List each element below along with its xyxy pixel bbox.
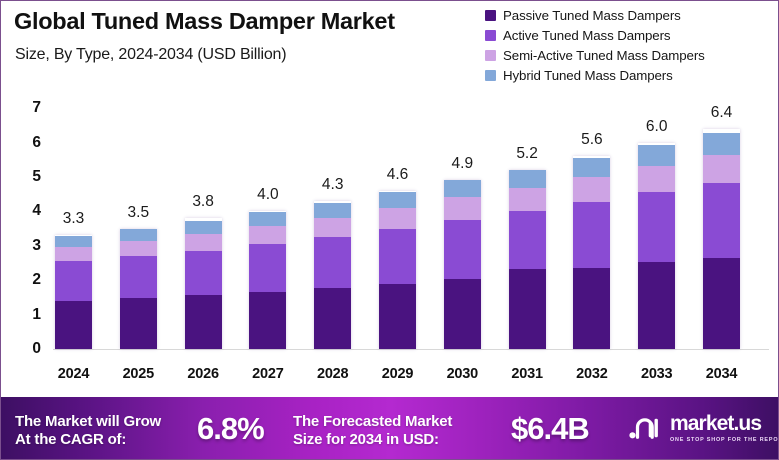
cagr-label-line2: At the CAGR of: [15, 431, 161, 449]
bar-segment[interactable] [638, 145, 675, 166]
market-us-logo[interactable]: market.us ONE STOP SHOP FOR THE REPORTS [629, 410, 779, 446]
x-axis-tick-label: 2032 [561, 366, 623, 382]
bar-segment[interactable] [573, 158, 610, 177]
bar-segment[interactable] [314, 203, 351, 218]
bar-segment[interactable] [444, 180, 481, 197]
bar-segment[interactable] [249, 292, 286, 349]
bar-group[interactable]: 6.0 [638, 143, 675, 349]
x-axis-tick-label: 2033 [626, 366, 688, 382]
stacked-bar[interactable] [638, 143, 675, 349]
bar-segment[interactable] [185, 251, 222, 295]
x-axis-tick-label: 2034 [691, 366, 753, 382]
bar-segment[interactable] [509, 211, 546, 269]
stacked-bar[interactable] [379, 191, 416, 349]
bar-total-label: 4.9 [452, 155, 474, 173]
legend-swatch-icon [485, 10, 496, 21]
x-axis-tick-label: 2030 [431, 366, 493, 382]
chart-legend: Passive Tuned Mass DampersActive Tuned M… [485, 7, 705, 84]
x-axis-tick-label: 2029 [367, 366, 429, 382]
bar-segment[interactable] [55, 261, 92, 301]
chart-infographic: Global Tuned Mass Damper Market Size, By… [0, 0, 779, 460]
logo-text: market.us ONE STOP SHOP FOR THE REPORTS [670, 413, 779, 443]
forecast-size-label-line1: The Forecasted Market [293, 413, 452, 431]
legend-item-label: Semi-Active Tuned Mass Dampers [503, 48, 705, 63]
stacked-bar[interactable] [55, 235, 92, 349]
bar-segment[interactable] [379, 229, 416, 284]
bar-segment[interactable] [185, 234, 222, 251]
bar-segment[interactable] [573, 268, 610, 349]
bar-segment[interactable] [249, 212, 286, 226]
bar-segment[interactable] [120, 229, 157, 241]
logo-name: market.us [670, 413, 779, 434]
stacked-bar[interactable] [120, 229, 157, 349]
bar-segment[interactable] [573, 202, 610, 268]
x-axis-tick-label: 2025 [107, 366, 169, 382]
bar-group[interactable]: 6.4 [703, 129, 740, 349]
bar-total-label: 6.4 [711, 104, 733, 122]
bar-segment[interactable] [249, 244, 286, 291]
bar-segment[interactable] [314, 288, 351, 349]
bar-segment[interactable] [509, 188, 546, 211]
bar-segment[interactable] [120, 241, 157, 256]
x-axis-tick-label: 2024 [43, 366, 105, 382]
bar-total-label: 3.8 [192, 193, 214, 211]
forecast-size-label: The Forecasted Market Size for 2034 in U… [293, 413, 452, 450]
bars-layer: 3.33.53.84.04.34.64.95.25.66.06.4 [1, 93, 779, 388]
bar-group[interactable]: 4.0 [249, 211, 286, 349]
bar-segment[interactable] [120, 298, 157, 349]
cagr-label-line1: The Market will Grow [15, 413, 161, 431]
bar-total-label: 5.2 [516, 145, 538, 163]
bar-segment[interactable] [185, 295, 222, 349]
legend-item[interactable]: Hybrid Tuned Mass Dampers [485, 67, 705, 84]
x-axis-tick-label: 2026 [172, 366, 234, 382]
page-subtitle: Size, By Type, 2024-2034 (USD Billion) [15, 46, 286, 64]
cagr-value: 6.8% [197, 411, 264, 447]
logo-mark-icon [629, 415, 663, 441]
bar-segment[interactable] [509, 269, 546, 349]
chart-plot-area: 01234567 3.33.53.84.04.34.64.95.25.66.06… [1, 93, 779, 388]
stacked-bar[interactable] [703, 129, 740, 349]
bar-segment[interactable] [703, 133, 740, 155]
bar-segment[interactable] [55, 236, 92, 247]
bar-segment[interactable] [120, 256, 157, 298]
bar-group[interactable]: 5.6 [573, 156, 610, 349]
legend-item[interactable]: Passive Tuned Mass Dampers [485, 7, 705, 24]
bar-segment[interactable] [185, 221, 222, 234]
bar-group[interactable]: 4.6 [379, 191, 416, 349]
bar-segment[interactable] [444, 279, 481, 349]
legend-item[interactable]: Semi-Active Tuned Mass Dampers [485, 47, 705, 64]
legend-item-label: Active Tuned Mass Dampers [503, 28, 670, 43]
bar-total-label: 3.5 [128, 204, 150, 222]
forecast-size-value: $6.4B [511, 411, 589, 447]
x-axis-tick-label: 2028 [302, 366, 364, 382]
bar-group[interactable]: 3.8 [185, 218, 222, 349]
bar-group[interactable]: 4.3 [314, 201, 351, 349]
forecast-size-label-line2: Size for 2034 in USD: [293, 431, 452, 449]
bar-total-label: 5.6 [581, 131, 603, 149]
bar-segment[interactable] [379, 284, 416, 349]
bar-segment[interactable] [703, 155, 740, 183]
x-axis-tick-label: 2031 [496, 366, 558, 382]
legend-swatch-icon [485, 70, 496, 81]
bar-segment[interactable] [249, 226, 286, 244]
stacked-bar[interactable] [573, 156, 610, 349]
bar-segment[interactable] [509, 170, 546, 188]
legend-item[interactable]: Active Tuned Mass Dampers [485, 27, 705, 44]
logo-tagline: ONE STOP SHOP FOR THE REPORTS [670, 437, 779, 443]
legend-swatch-icon [485, 30, 496, 41]
legend-swatch-icon [485, 50, 496, 61]
bar-segment[interactable] [573, 177, 610, 201]
bar-segment[interactable] [703, 183, 740, 258]
bar-group[interactable]: 3.3 [55, 235, 92, 349]
x-axis-tick-label: 2027 [237, 366, 299, 382]
bar-segment[interactable] [55, 301, 92, 349]
stacked-bar[interactable] [314, 201, 351, 349]
legend-item-label: Passive Tuned Mass Dampers [503, 8, 681, 23]
bar-total-label: 3.3 [63, 210, 85, 228]
bar-total-label: 4.0 [257, 186, 279, 204]
footer-banner: The Market will Grow At the CAGR of: 6.8… [1, 397, 779, 459]
legend-item-label: Hybrid Tuned Mass Dampers [503, 68, 673, 83]
bar-segment[interactable] [444, 220, 481, 280]
bar-segment[interactable] [703, 258, 740, 350]
cagr-label: The Market will Grow At the CAGR of: [15, 413, 161, 450]
bar-group[interactable]: 3.5 [120, 229, 157, 349]
bar-segment[interactable] [314, 237, 351, 288]
bar-segment[interactable] [638, 166, 675, 192]
stacked-bar[interactable] [444, 180, 481, 349]
bar-segment[interactable] [638, 262, 675, 349]
bar-segment[interactable] [379, 208, 416, 229]
bar-total-label: 4.3 [322, 176, 344, 194]
bar-group[interactable]: 5.2 [509, 170, 546, 349]
bar-total-label: 4.6 [387, 166, 409, 184]
bar-segment[interactable] [379, 192, 416, 208]
bar-segment[interactable] [638, 192, 675, 263]
bar-total-label: 6.0 [646, 118, 668, 136]
stacked-bar[interactable] [509, 170, 546, 349]
stacked-bar[interactable] [249, 211, 286, 349]
bar-segment[interactable] [444, 197, 481, 219]
bar-segment[interactable] [55, 247, 92, 261]
bar-segment[interactable] [314, 218, 351, 238]
bar-group[interactable]: 4.9 [444, 180, 481, 349]
page-title: Global Tuned Mass Damper Market [14, 8, 395, 35]
stacked-bar[interactable] [185, 218, 222, 349]
